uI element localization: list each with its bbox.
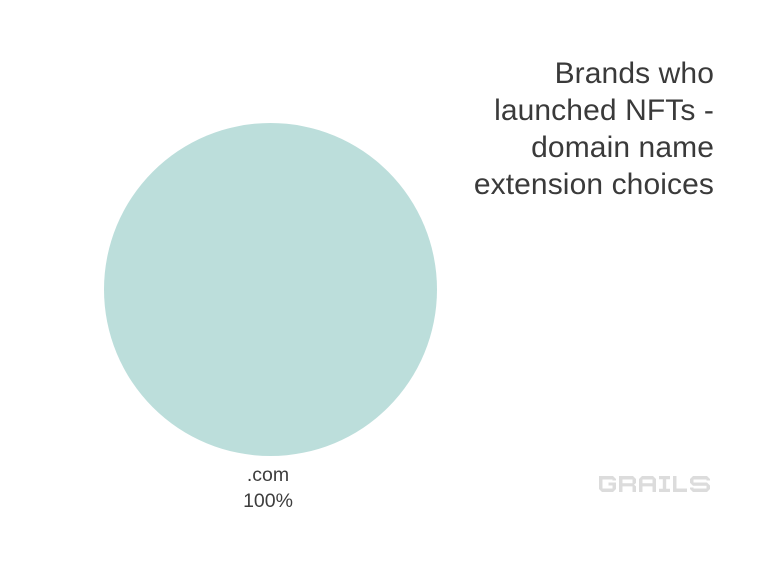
- chart-title-line-4: extension choices: [384, 166, 714, 203]
- pie-slice-label: .com 100%: [168, 462, 368, 514]
- chart-title-line-2: launched NFTs -: [384, 92, 714, 129]
- grails-logo-watermark: [599, 473, 713, 495]
- chart-canvas: .com 100% Brands who launched NFTs - dom…: [0, 0, 768, 569]
- pie-slice-label-name: .com: [168, 462, 368, 488]
- grails-wordmark-icon: [599, 473, 713, 495]
- chart-title-line-3: domain name: [384, 129, 714, 166]
- chart-title: Brands who launched NFTs - domain name e…: [384, 55, 714, 203]
- pie-slice-label-percent: 100%: [168, 488, 368, 514]
- chart-title-line-1: Brands who: [384, 55, 714, 92]
